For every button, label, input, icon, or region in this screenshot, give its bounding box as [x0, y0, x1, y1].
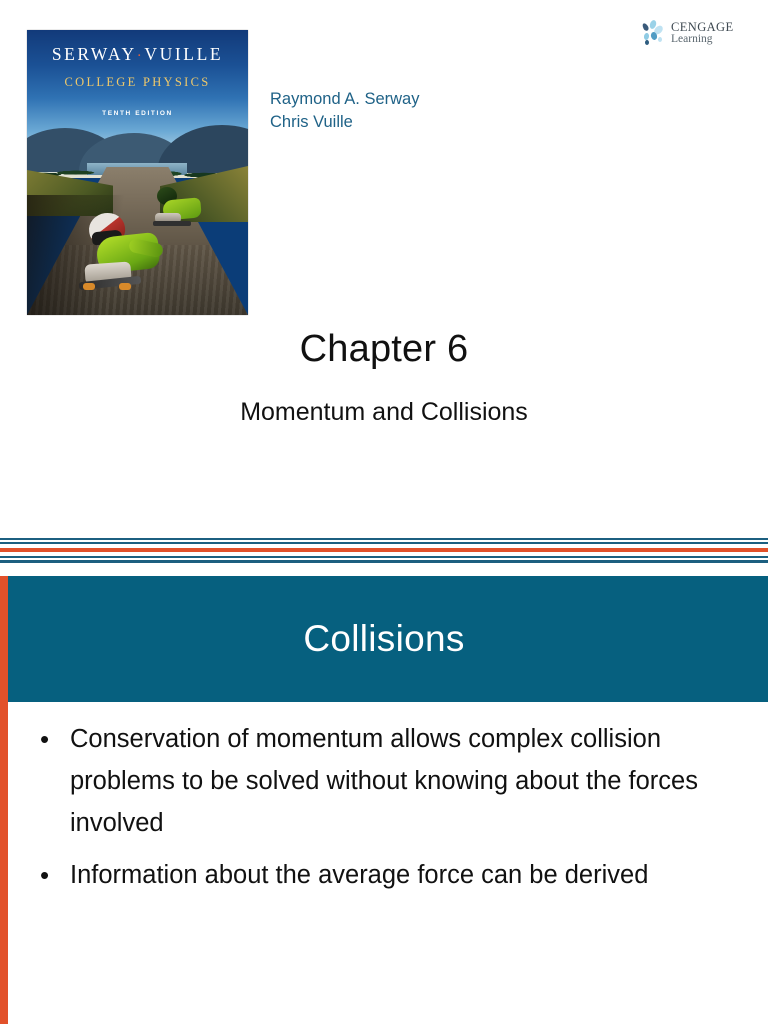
book-cover-title: COLLEGE PHYSICS — [27, 75, 248, 90]
banner-accent-bar — [0, 576, 8, 702]
author-names: Raymond A. Serway Chris Vuille — [270, 88, 419, 135]
cengage-logo-name: CENGAGE — [671, 21, 734, 34]
bullet-text: Conservation of momentum allows complex … — [70, 718, 700, 844]
divider-stripe-orange — [0, 548, 768, 552]
cengage-logo-wordmark: CENGAGE Learning — [671, 21, 734, 45]
bullet-marker-icon: • — [40, 854, 70, 896]
book-cover-edition: TENTH EDITION — [27, 110, 248, 117]
book-cover-image: SERWAY·VUILLE COLLEGE PHYSICS TENTH EDIT… — [27, 30, 248, 315]
content-slide: Collisions • Conservation of momentum al… — [0, 576, 768, 1024]
list-item: • Information about the average force ca… — [40, 854, 700, 896]
cengage-logo-sub: Learning — [671, 34, 734, 46]
list-item: • Conservation of momentum allows comple… — [40, 718, 700, 844]
divider-stripe-teal-4 — [0, 560, 768, 563]
slide-header-title: Collisions — [303, 618, 464, 660]
author-name-2: Chris Vuille — [270, 111, 419, 134]
bullet-marker-icon: • — [40, 718, 70, 760]
chapter-subtitle: Momentum and Collisions — [0, 398, 768, 427]
chapter-title: Chapter 6 — [0, 328, 768, 371]
book-cover-author1: SERWAY — [52, 44, 137, 64]
divider-stripe-teal-2 — [0, 542, 768, 544]
title-slide: CENGAGE Learning SERWAY·VUILLE COLLEGE P… — [0, 0, 768, 537]
bullet-text: Information about the average force can … — [70, 854, 700, 896]
author-name-1: Raymond A. Serway — [270, 88, 419, 111]
slide-header-banner: Collisions — [0, 576, 768, 702]
divider-stripe-teal-1 — [0, 538, 768, 540]
cengage-learning-logo: CENGAGE Learning — [642, 14, 750, 52]
book-cover-rider-front — [79, 205, 175, 289]
divider-stripe-teal-3 — [0, 556, 768, 558]
slide-side-accent-bar — [0, 702, 8, 1024]
book-cover-authors: SERWAY·VUILLE — [27, 44, 248, 65]
bullet-list: • Conservation of momentum allows comple… — [40, 718, 700, 906]
book-cover-author2: VUILLE — [144, 44, 223, 64]
cengage-pinwheel-icon — [642, 20, 666, 46]
